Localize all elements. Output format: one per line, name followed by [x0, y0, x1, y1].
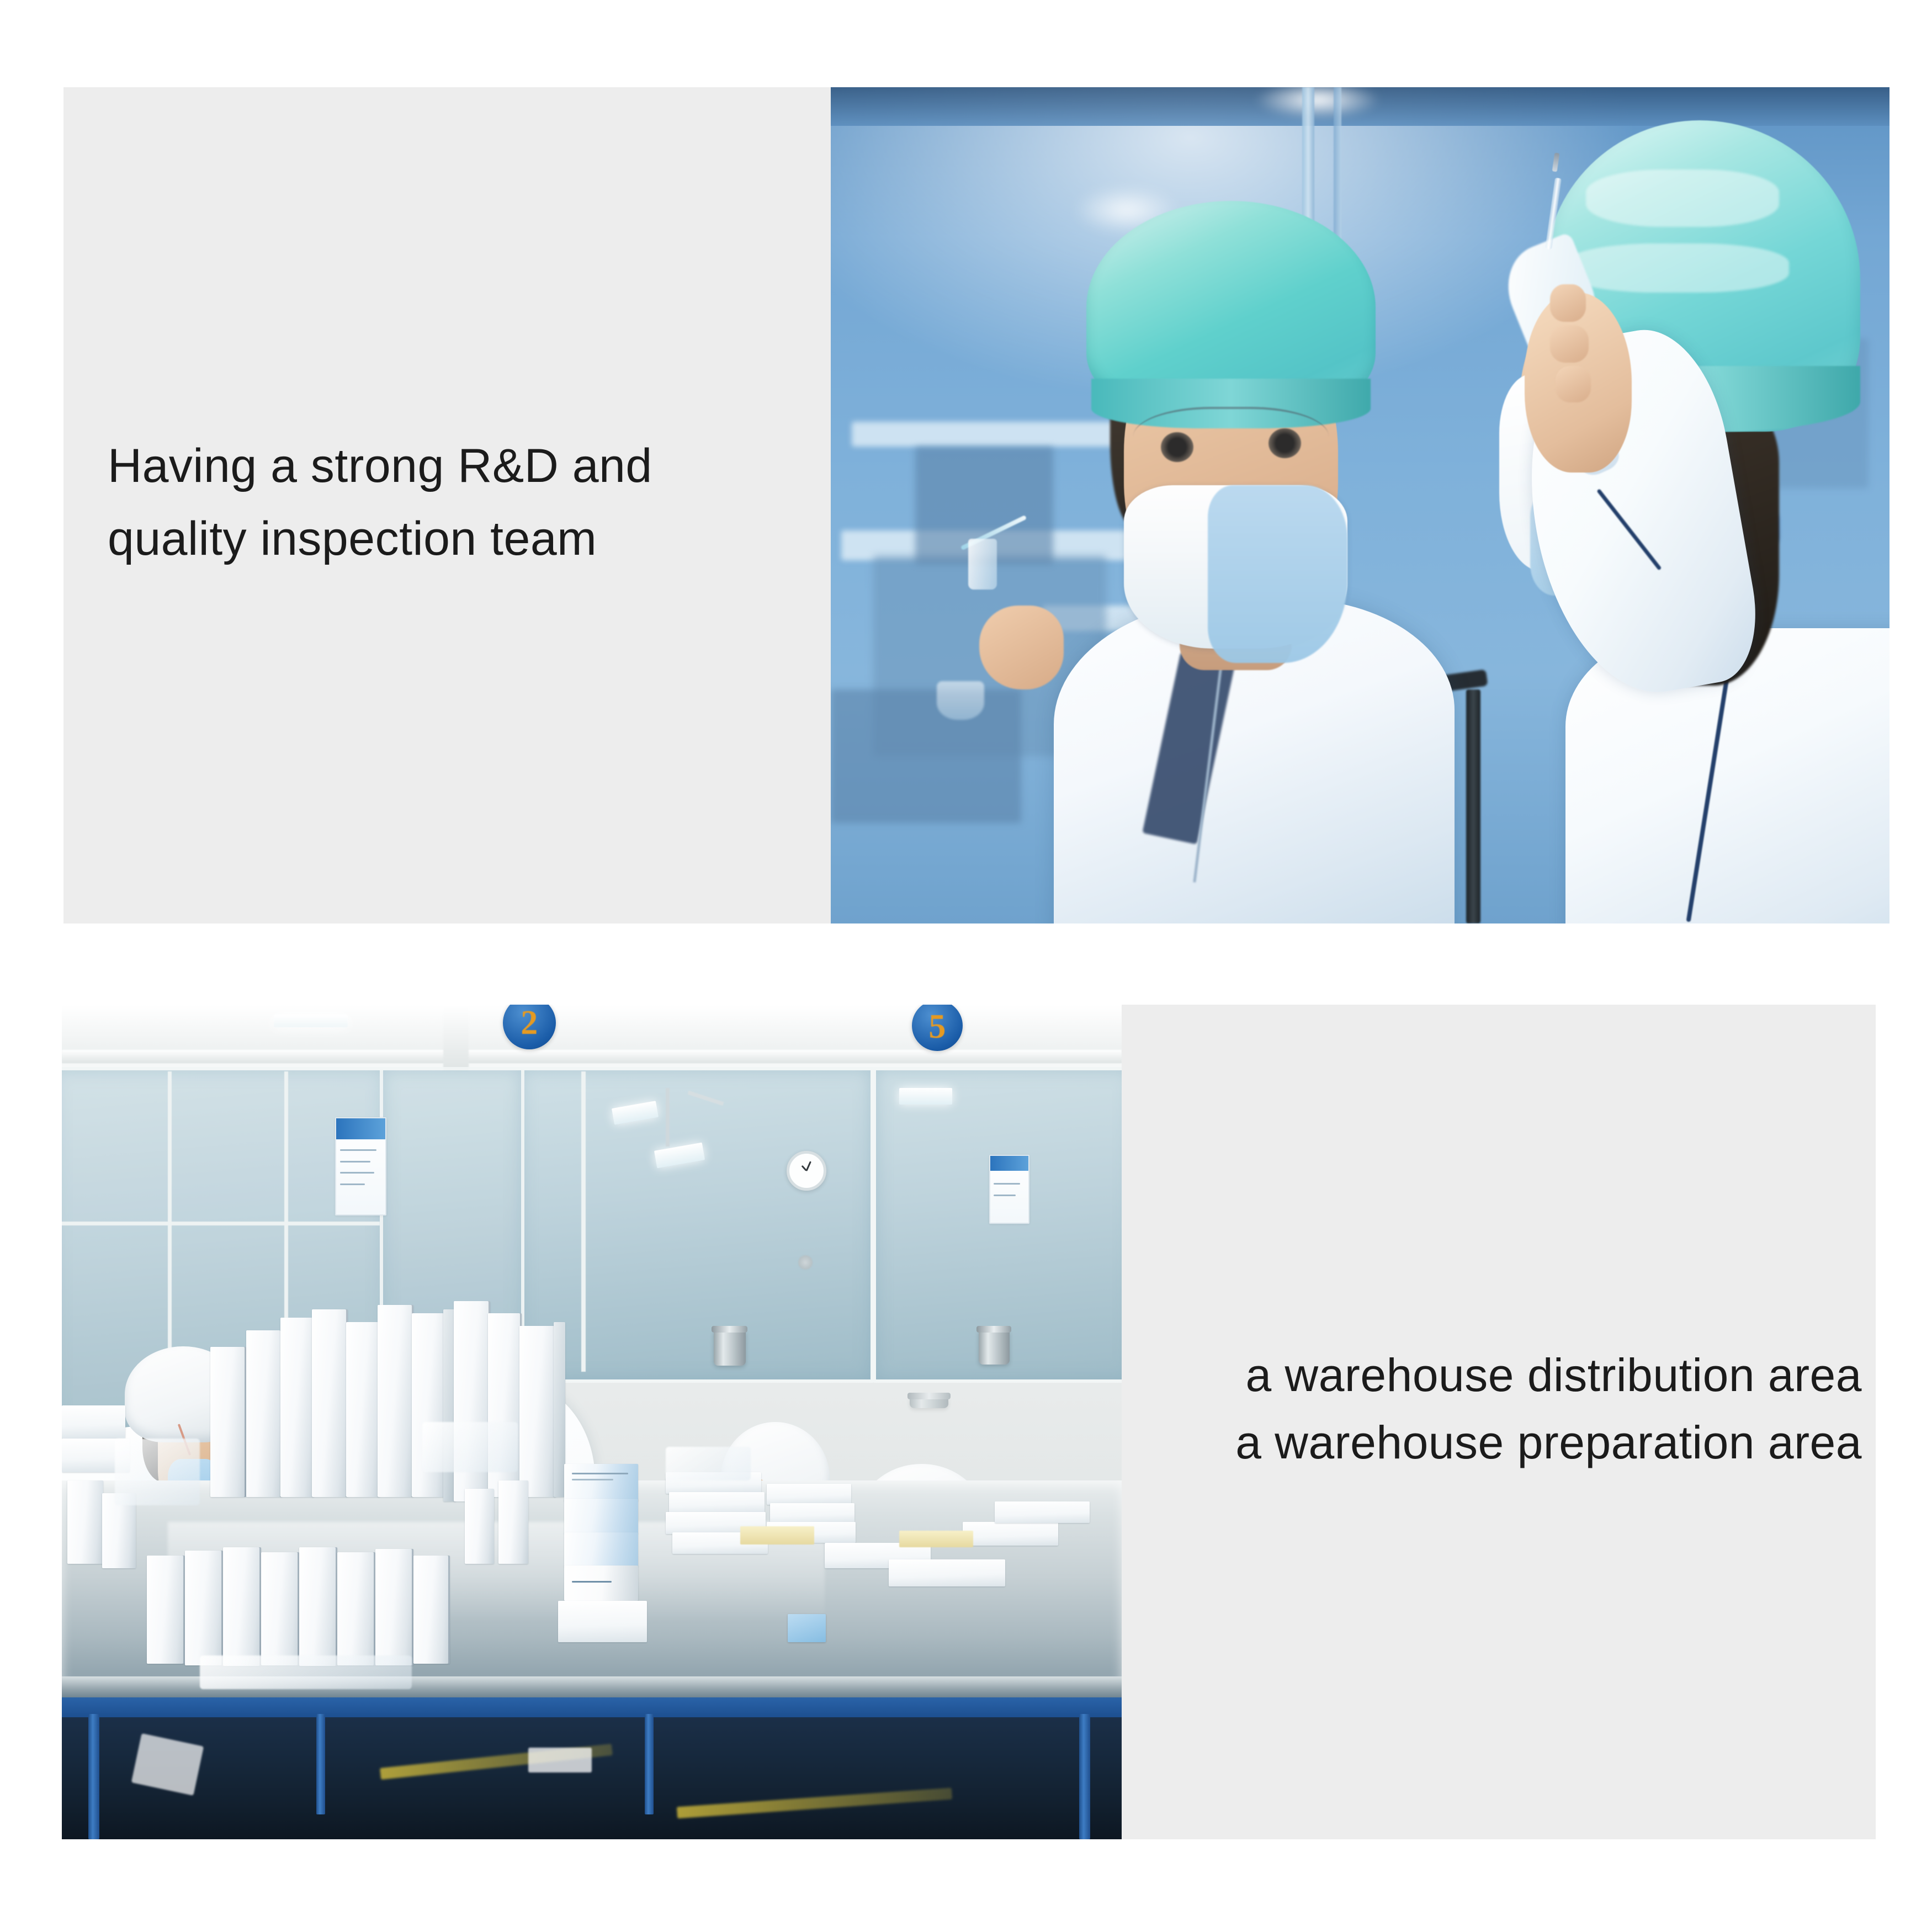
ceiling-beam — [443, 1005, 469, 1071]
carton-stack — [378, 1305, 413, 1497]
table-leg — [1079, 1714, 1090, 1839]
dropped-wrapper — [528, 1748, 592, 1772]
carton-flat — [62, 1405, 125, 1439]
carton-front — [147, 1556, 185, 1664]
sign-glyph-2: 2 — [512, 1006, 546, 1039]
carton-front — [337, 1552, 375, 1666]
wall-poster — [335, 1117, 386, 1216]
plastic-wrap — [422, 1422, 518, 1472]
warehouse-text-panel: a warehouse distribution area a warehous… — [1122, 1005, 1876, 1839]
poster-line — [340, 1183, 364, 1185]
blue-label-card — [788, 1614, 826, 1642]
carton-standing — [465, 1489, 495, 1564]
poster-line — [994, 1183, 1020, 1185]
carton-stack — [312, 1309, 348, 1497]
carton-stack — [280, 1318, 314, 1497]
wall-outlet — [798, 1255, 813, 1270]
under-table-area — [62, 1717, 1122, 1839]
sleeve-piping — [1596, 489, 1662, 570]
window-light — [899, 1088, 952, 1105]
vial-metal-tip — [1552, 153, 1560, 172]
hanging-fixture — [666, 1088, 670, 1147]
poster-header — [336, 1118, 385, 1139]
table-leg — [316, 1714, 325, 1814]
stainless-tray — [910, 1397, 948, 1408]
finger — [1556, 366, 1591, 402]
carton-flat — [669, 1492, 765, 1514]
yellow-insert — [740, 1526, 814, 1544]
clock-minute-hand — [806, 1161, 811, 1171]
table-blue-frame — [62, 1697, 1122, 1717]
carton-blue-label — [564, 1499, 638, 1534]
carton-flat — [770, 1503, 855, 1524]
cap-fold — [1565, 243, 1789, 293]
carton-stack — [246, 1330, 282, 1497]
packing-room-scene: 2 5 — [62, 1005, 1122, 1839]
lab-equipment — [831, 689, 1021, 823]
sign-glyph-5: 5 — [921, 1010, 953, 1042]
worker-eye — [1268, 428, 1301, 458]
carton-label-line — [572, 1479, 613, 1480]
carton-front — [223, 1547, 261, 1666]
ceiling-lamp-icon — [274, 1015, 348, 1027]
wall-clock-icon — [787, 1151, 826, 1191]
carton-stack — [346, 1322, 380, 1498]
carton-gap-shadow — [554, 1322, 565, 1498]
carton-standing — [498, 1480, 528, 1564]
plastic-wrap — [200, 1655, 412, 1689]
poster-line — [340, 1149, 376, 1151]
carton-blue-label — [564, 1532, 638, 1568]
plastic-wrap — [666, 1447, 751, 1480]
poster-header — [990, 1156, 1028, 1171]
table-leg — [645, 1714, 654, 1814]
wall-poster — [989, 1155, 1029, 1224]
rd-quality-caption: Having a strong R&D and quality inspecti… — [108, 429, 809, 575]
carton-front — [261, 1552, 299, 1666]
worker-hand — [979, 606, 1064, 689]
rd-quality-text-panel: Having a strong R&D and quality inspecti… — [63, 87, 831, 923]
warehouse-caption: a warehouse distribution area a warehous… — [1144, 1341, 1862, 1476]
worker-eye — [1161, 432, 1193, 462]
carton-standing — [67, 1480, 103, 1564]
stainless-pot — [714, 1330, 746, 1366]
carton-label-line — [572, 1581, 612, 1583]
poster-line — [340, 1172, 374, 1174]
table-leg — [88, 1714, 99, 1839]
carton-open — [558, 1601, 647, 1643]
section-rd-quality: Having a strong R&D and quality inspecti… — [63, 87, 1889, 923]
beaker-icon — [937, 681, 984, 720]
section-warehouse: 2 5 — [62, 1005, 1876, 1839]
ceiling-beam — [62, 1050, 1122, 1063]
yellow-insert — [899, 1531, 973, 1547]
poster-line — [340, 1161, 370, 1163]
slide-canvas: Having a strong R&D and quality inspecti… — [0, 0, 1932, 1932]
lab-scene — [831, 87, 1889, 923]
carton-label-line — [572, 1473, 628, 1474]
lab-quality-inspection-photo — [831, 87, 1889, 923]
window-mullion — [62, 1222, 380, 1225]
face-mask-blue-fold — [1208, 485, 1347, 663]
carton-front — [413, 1556, 449, 1664]
carton-stack — [519, 1326, 555, 1497]
carton-front — [299, 1547, 337, 1666]
carton-flat — [995, 1501, 1090, 1523]
warehouse-packing-photo: 2 5 — [62, 1005, 1122, 1839]
finger — [1550, 284, 1585, 322]
stainless-pot — [979, 1330, 1010, 1365]
finger — [1550, 325, 1588, 363]
poster-line — [994, 1195, 1016, 1196]
carton-flat — [963, 1522, 1058, 1545]
carton-blue-label — [564, 1464, 638, 1501]
carton-front — [375, 1549, 413, 1666]
sample-vial — [968, 539, 997, 590]
cap-fold — [1586, 169, 1779, 227]
carton-front — [185, 1551, 223, 1666]
carton-flat — [889, 1559, 1005, 1586]
carton-flat — [767, 1484, 852, 1505]
plastic-wrap — [115, 1439, 200, 1505]
carton — [564, 1565, 638, 1601]
carton-stack — [210, 1347, 246, 1497]
lab-worker-profile — [1413, 104, 1889, 923]
